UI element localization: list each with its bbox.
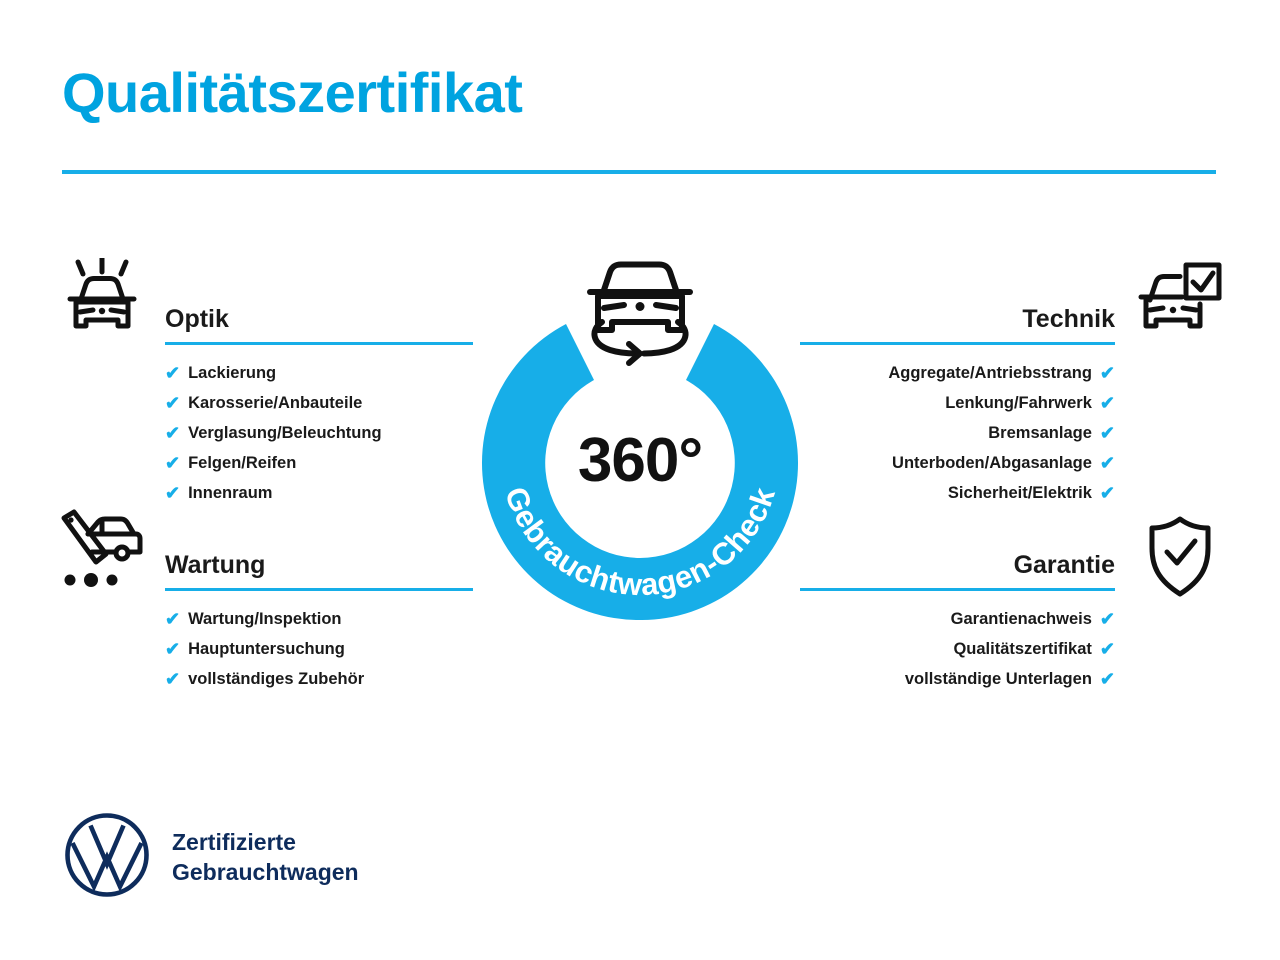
section-title-optik: Optik [165, 305, 229, 334]
checklist-item-label: Verglasung/Beleuchtung [188, 424, 381, 443]
car-front-rotate-icon [580, 250, 700, 373]
section-header-wartung: Wartung [165, 542, 473, 586]
checklist-item-label: Qualitätszertifikat [953, 640, 1091, 659]
checklist-item: Sicherheit/Elektrik✔ [800, 478, 1115, 508]
checklist-item-label: Felgen/Reifen [188, 454, 296, 473]
checklist-item: ✔Innenraum [165, 478, 473, 508]
checklist-item: ✔Verglasung/Beleuchtung [165, 418, 473, 448]
section-garantie: GarantieGarantienachweis✔Qualitätszertif… [800, 542, 1115, 586]
checklist-item-label: Bremsanlage [988, 424, 1092, 443]
checklist-item-label: vollständiges Zubehör [188, 670, 364, 689]
checklist-item: Bremsanlage✔ [800, 418, 1115, 448]
section-wartung: Wartung✔Wartung/Inspektion✔Hauptuntersuc… [165, 542, 473, 586]
footer-logo-lockup: Zertifizierte Gebrauchtwagen [64, 812, 359, 903]
checklist-item: vollständige Unterlagen✔ [800, 664, 1115, 694]
checklist-item: Qualitätszertifikat✔ [800, 634, 1115, 664]
check-icon: ✔ [165, 484, 180, 502]
checklist-item: Garantienachweis✔ [800, 604, 1115, 634]
checklist-item: ✔Hauptuntersuchung [165, 634, 473, 664]
check-icon: ✔ [1100, 454, 1115, 472]
checklist-item-label: Innenraum [188, 484, 272, 503]
check-icon: ✔ [165, 424, 180, 442]
checklist-item-label: Aggregate/Antriebsstrang [888, 364, 1092, 383]
checklist-item-label: Lenkung/Fahrwerk [945, 394, 1092, 413]
car-front-shine-icon [62, 258, 142, 347]
checklist-item: ✔Wartung/Inspektion [165, 604, 473, 634]
check-icon: ✔ [1100, 424, 1115, 442]
checklist-item-label: vollständige Unterlagen [905, 670, 1092, 689]
check-icon: ✔ [165, 394, 180, 412]
checklist-item-label: Sicherheit/Elektrik [948, 484, 1092, 503]
shield-check-icon [1142, 514, 1218, 603]
checklist-item-label: Garantienachweis [951, 610, 1092, 629]
badge-center-value: 360° [458, 425, 822, 496]
checklist-optik: ✔Lackierung✔Karosserie/Anbauteile✔Vergla… [165, 358, 473, 508]
footer-line-2: Gebrauchtwagen [172, 859, 359, 885]
page-title: Qualitätszertifikat [62, 62, 522, 124]
section-header-optik: Optik [165, 296, 473, 340]
section-title-technik: Technik [1022, 305, 1115, 334]
car-front-checkbox-icon [1136, 262, 1222, 349]
checklist-item: ✔Lackierung [165, 358, 473, 388]
section-optik: Optik✔Lackierung✔Karosserie/Anbauteile✔V… [165, 296, 473, 340]
section-divider-garantie [800, 588, 1115, 591]
checklist-item-label: Hauptuntersuchung [188, 640, 345, 659]
section-header-technik: Technik [800, 296, 1115, 340]
check-icon: ✔ [1100, 394, 1115, 412]
360-check-badge: Gebrauchtwagen-Check 360° [458, 250, 822, 650]
section-technik: TechnikAggregate/Antriebsstrang✔Lenkung/… [800, 296, 1115, 340]
check-icon: ✔ [1100, 640, 1115, 658]
checklist-item-label: Karosserie/Anbauteile [188, 394, 362, 413]
section-header-garantie: Garantie [800, 542, 1115, 586]
checklist-item: Lenkung/Fahrwerk✔ [800, 388, 1115, 418]
checklist-item-label: Lackierung [188, 364, 276, 383]
check-icon: ✔ [165, 454, 180, 472]
checklist-item: Aggregate/Antriebsstrang✔ [800, 358, 1115, 388]
section-divider-technik [800, 342, 1115, 345]
section-divider-optik [165, 342, 473, 345]
volkswagen-logo [64, 812, 150, 903]
check-icon: ✔ [1100, 484, 1115, 502]
section-title-garantie: Garantie [1014, 551, 1115, 580]
section-divider-wartung [165, 588, 473, 591]
check-icon: ✔ [1100, 610, 1115, 628]
checklist-item-label: Unterboden/Abgasanlage [892, 454, 1092, 473]
checklist-item: ✔Felgen/Reifen [165, 448, 473, 478]
checklist-technik: Aggregate/Antriebsstrang✔Lenkung/Fahrwer… [800, 358, 1115, 508]
title-divider [62, 170, 1216, 174]
check-icon: ✔ [1100, 670, 1115, 688]
checklist-wartung: ✔Wartung/Inspektion✔Hauptuntersuchung✔vo… [165, 604, 473, 694]
check-icon: ✔ [165, 364, 180, 382]
checklist-item: ✔Karosserie/Anbauteile [165, 388, 473, 418]
check-icon: ✔ [1100, 364, 1115, 382]
check-icon: ✔ [165, 670, 180, 688]
check-icon: ✔ [165, 640, 180, 658]
footer-line-1: Zertifizierte [172, 829, 296, 855]
wrench-car-service-icon [58, 508, 144, 597]
checklist-item-label: Wartung/Inspektion [188, 610, 341, 629]
section-title-wartung: Wartung [165, 551, 265, 580]
checklist-garantie: Garantienachweis✔Qualitätszertifikat✔vol… [800, 604, 1115, 694]
checklist-item: Unterboden/Abgasanlage✔ [800, 448, 1115, 478]
quality-certificate-page: Qualitätszertifikat [0, 0, 1280, 960]
checklist-item: ✔vollständiges Zubehör [165, 664, 473, 694]
check-icon: ✔ [165, 610, 180, 628]
footer-text: Zertifizierte Gebrauchtwagen [172, 828, 359, 887]
